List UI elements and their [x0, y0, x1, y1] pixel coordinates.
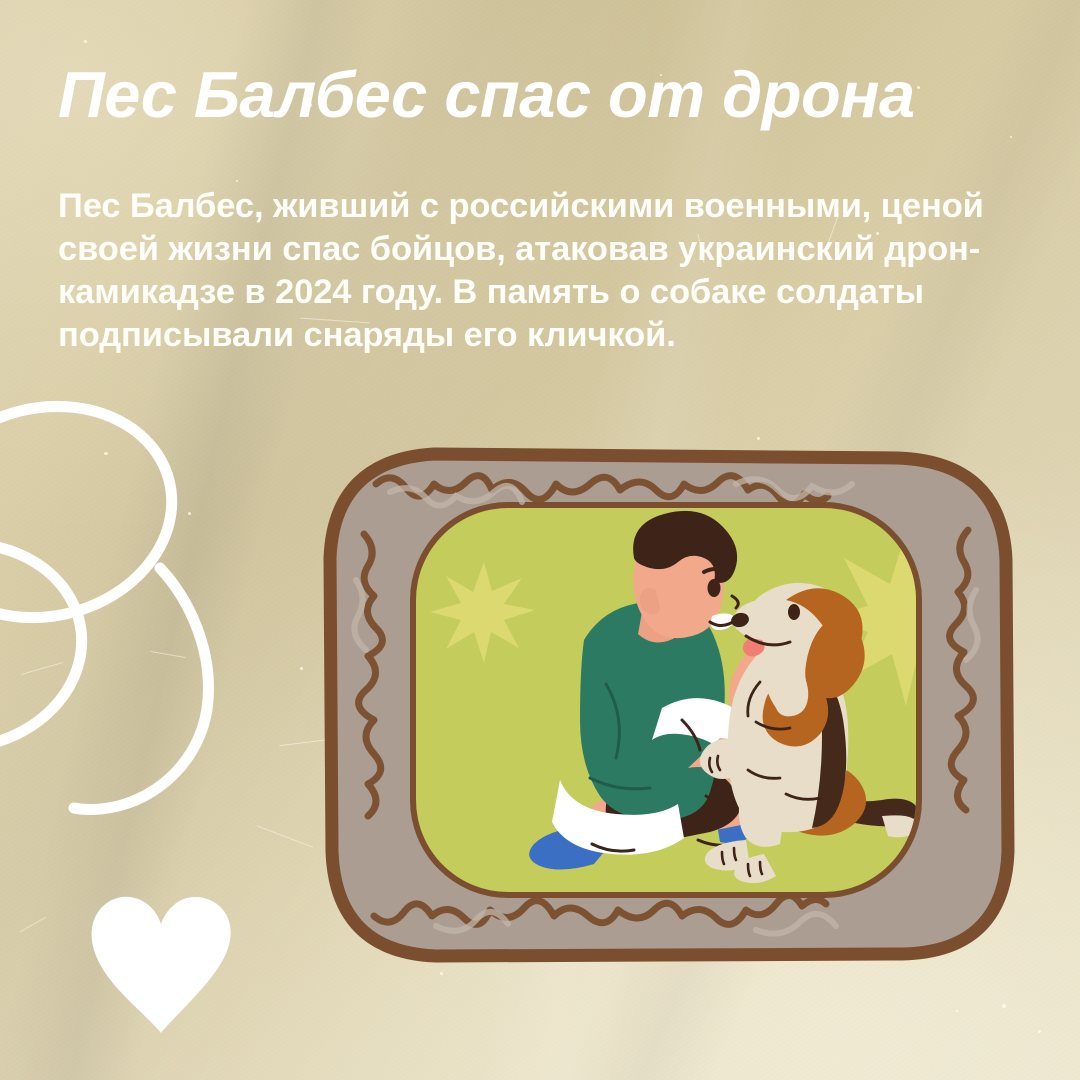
- swirl-loops-decoration: [0, 400, 280, 880]
- illustration-framed-artwork: [316, 440, 1016, 970]
- artwork-scene: [416, 508, 992, 892]
- heart-icon: [86, 888, 236, 1038]
- poster-canvas: Пес Балбес спас от дрона Пес Балбес, жив…: [0, 0, 1080, 1080]
- page-title: Пес Балбес спас от дрона: [58, 62, 1048, 127]
- body-paragraph: Пес Балбес, живший с российскими военным…: [58, 185, 1038, 357]
